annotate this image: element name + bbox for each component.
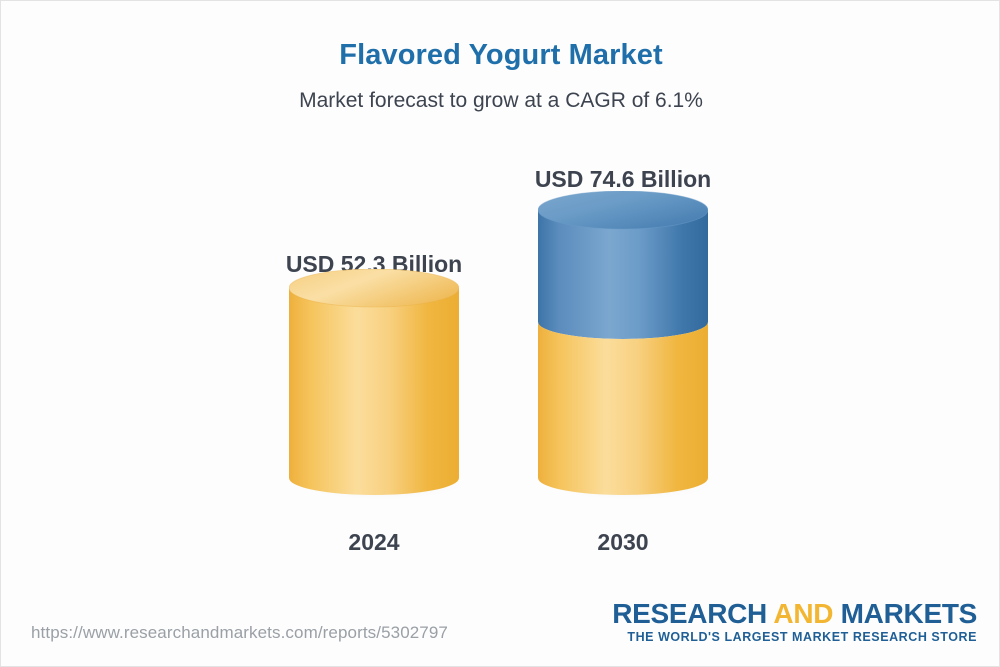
chart-plot-area: USD 52.3 Billion: [1, 1, 1000, 601]
logo-word-markets: MARKETS: [833, 598, 977, 629]
bar-category-label-2030: 2030: [597, 529, 648, 556]
bar-value-label-2030: USD 74.6 Billion: [535, 166, 711, 193]
research-and-markets-logo: RESEARCH AND MARKETS THE WORLD'S LARGEST…: [612, 599, 977, 644]
logo-wordmark: RESEARCH AND MARKETS: [612, 599, 977, 628]
infographic-canvas: Flavored Yogurt Market Market forecast t…: [0, 0, 1000, 667]
logo-word-research: RESEARCH: [612, 598, 773, 629]
cylinder-2024: [289, 269, 459, 509]
logo-word-and: AND: [773, 598, 833, 629]
logo-tagline: THE WORLD'S LARGEST MARKET RESEARCH STOR…: [612, 630, 977, 644]
cylinder-2030: [538, 191, 708, 509]
bar-category-label-2024: 2024: [348, 529, 399, 556]
source-url[interactable]: https://www.researchandmarkets.com/repor…: [31, 623, 448, 643]
